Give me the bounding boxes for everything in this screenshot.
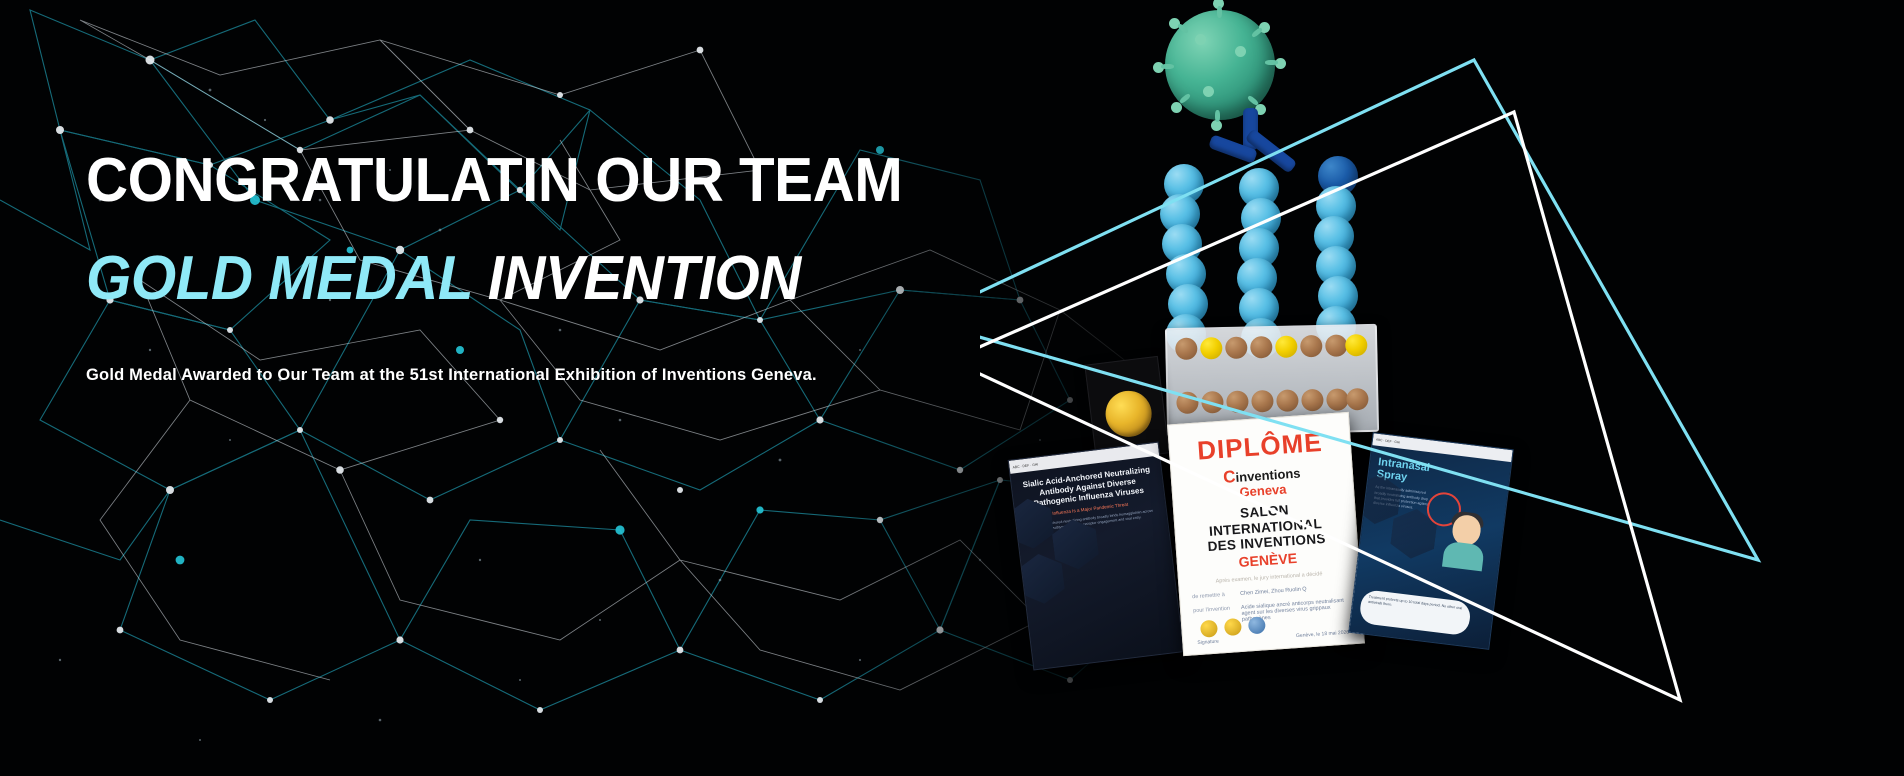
intranasal-spray-brochure: ABC · DEF · GHI Intranasal Spray As the … — [1348, 432, 1514, 650]
headline-block: CONGRATULATIN OUR TEAM GOLD MEDAL INVENT… — [86, 150, 966, 389]
signature-right: Genève, le 18 mai 2026 — [1296, 629, 1349, 639]
diploma-note: Après examen, le jury international a dé… — [1189, 569, 1349, 586]
description-text: Gold Medal Awarded to Our Team at the 51… — [86, 362, 906, 389]
gold-seal-icon — [1200, 620, 1218, 638]
research-poster: ABC · DEF · GHI Sialic Acid-Anchored Neu… — [1008, 442, 1185, 671]
subheadline-highlight: GOLD MEDAL — [86, 244, 472, 313]
subheadline-rest: INVENTION — [472, 244, 801, 313]
signature-left: Signature — [1197, 639, 1219, 646]
recipient-label: de remettre à — [1192, 591, 1232, 600]
congratulations-banner: CONGRATULATIN OUR TEAM GOLD MEDAL INVENT… — [0, 0, 1904, 776]
diploma-recipient-row: de remettre à Chen Zimei, Zhou Ruolin Q — [1192, 583, 1348, 600]
diploma-seals — [1200, 616, 1266, 637]
gold-medal — [1103, 388, 1154, 439]
subheadline: GOLD MEDAL INVENTION — [86, 248, 913, 310]
blue-seal-icon — [1248, 616, 1266, 634]
recipient-value: Chen Zimei, Zhou Ruolin Q — [1240, 586, 1307, 597]
logo-eneva: eneva — [1249, 481, 1287, 499]
page-title: CONGRATULATIN OUR TEAM — [86, 150, 913, 212]
person-illustration — [1440, 513, 1490, 570]
torso-shape — [1442, 541, 1485, 572]
diploma-certificate: DIPLÔME Cinventions Geneva SALON INTERNA… — [1167, 412, 1365, 656]
gold-seal-icon-2 — [1224, 618, 1242, 636]
brochure-speech-bubble: Treatment protects up to 10 total days p… — [1358, 589, 1471, 636]
award-photo-composite: ABC · DEF · GHI Sialic Acid-Anchored Neu… — [980, 0, 1904, 776]
